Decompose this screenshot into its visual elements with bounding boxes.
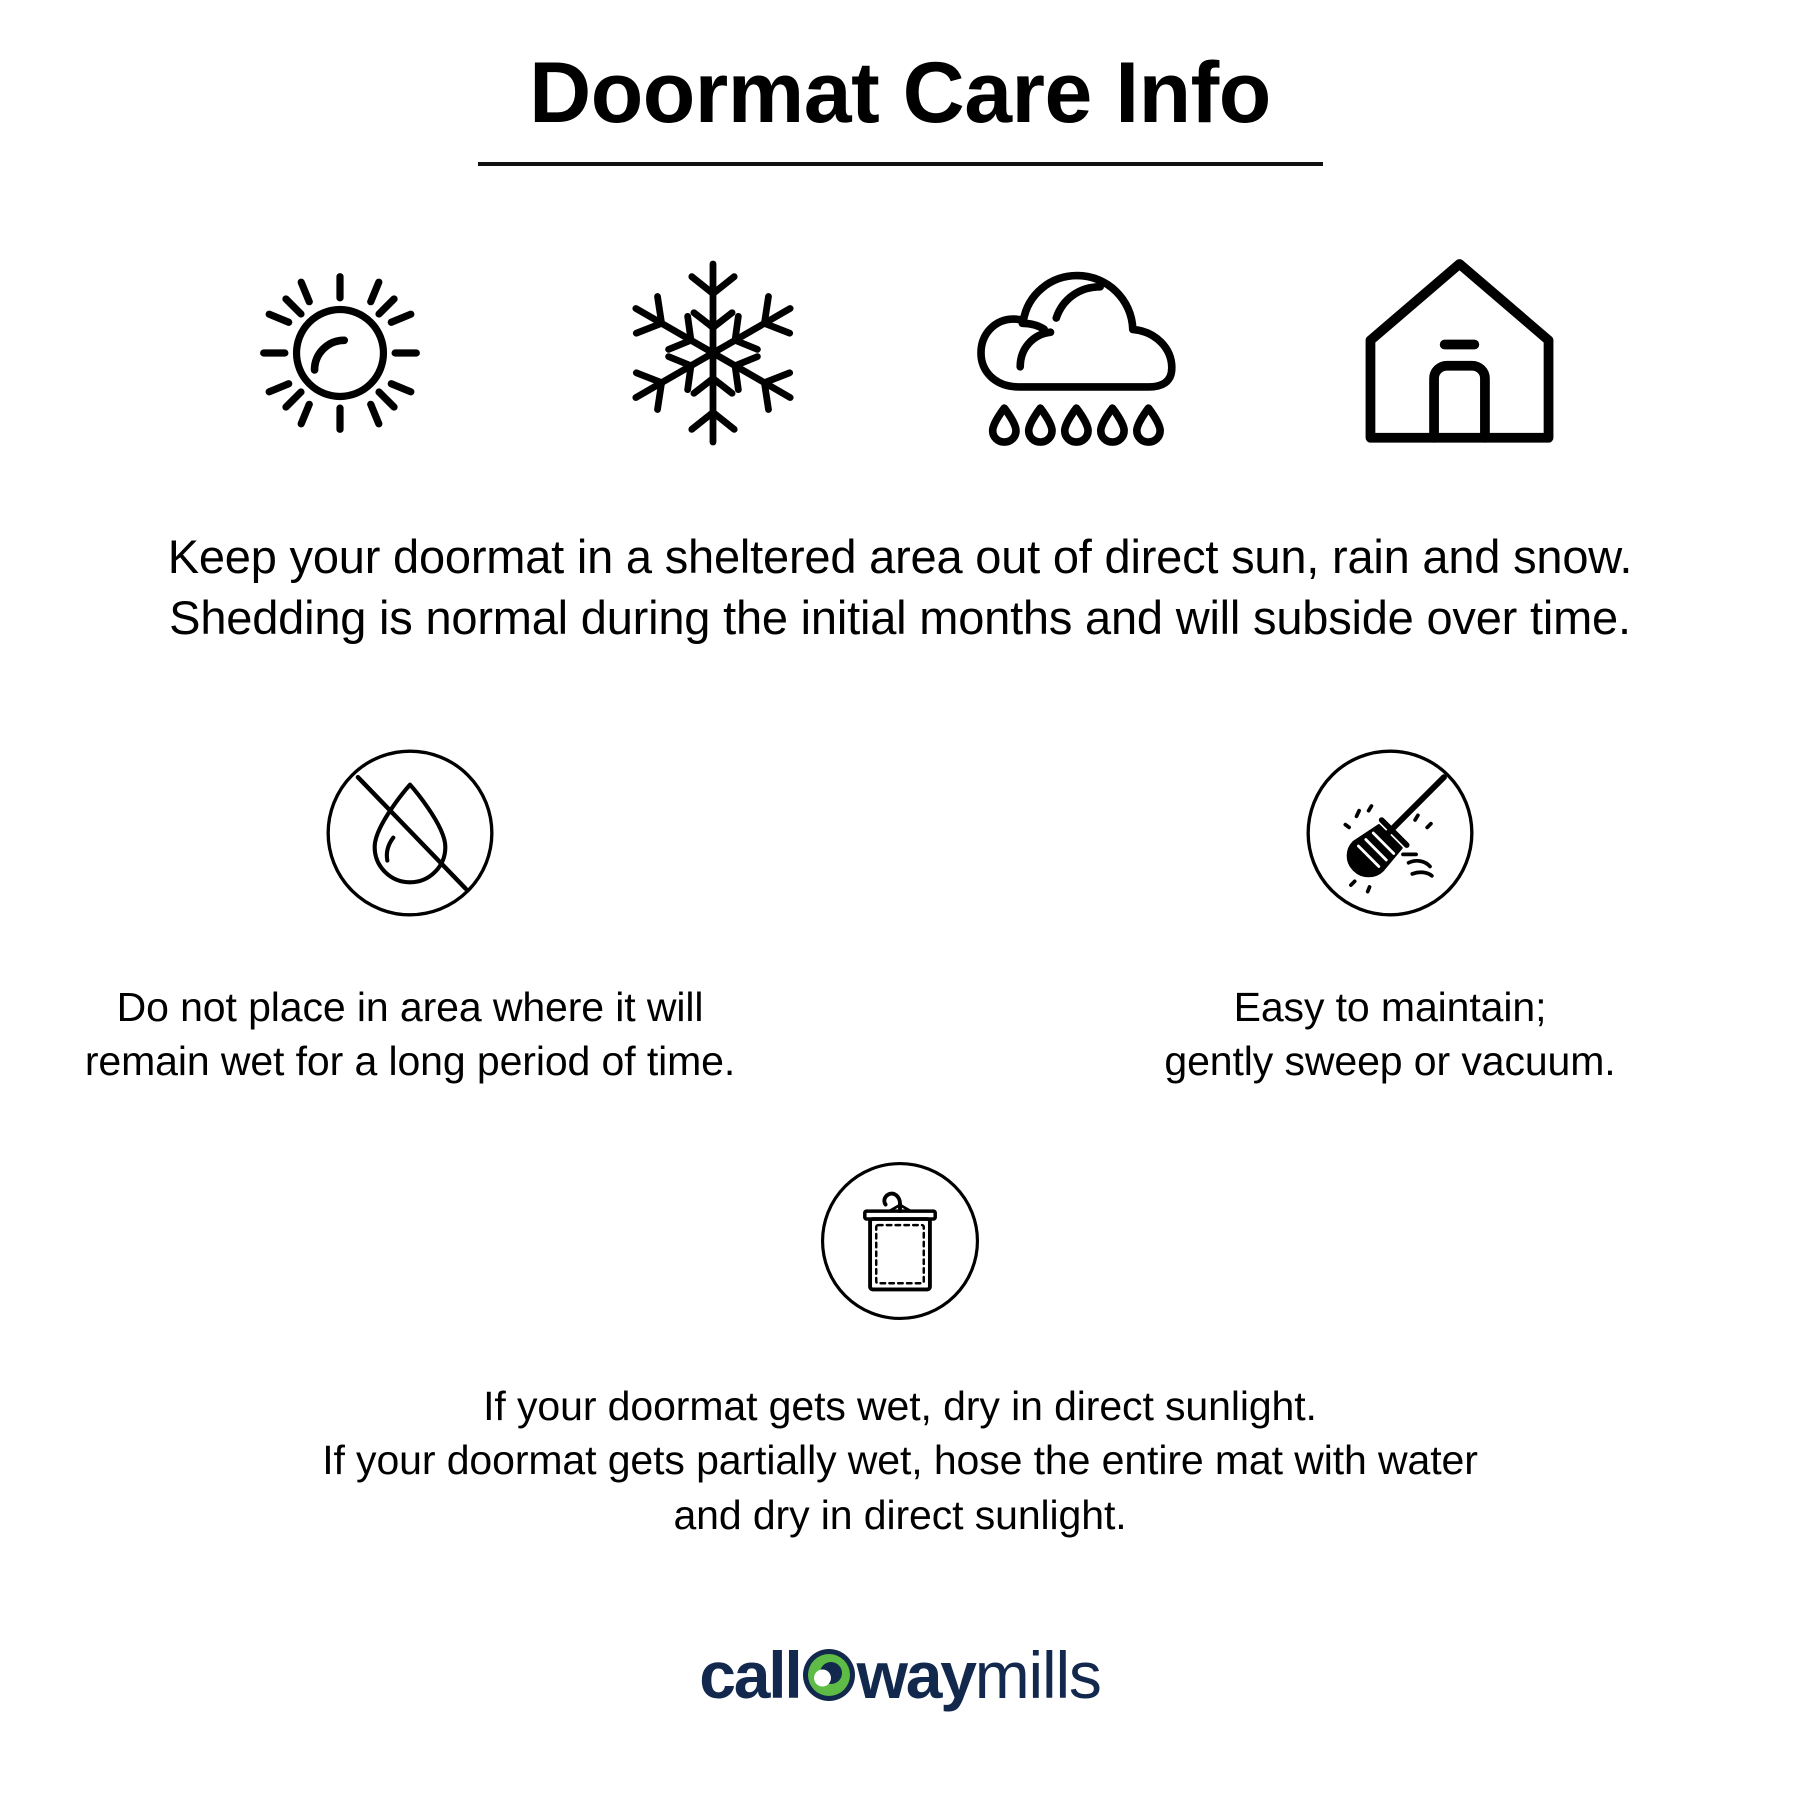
care-caption-line-2: remain wet for a long period of time. [85,1034,735,1089]
snowflake-icon [607,247,819,459]
care-item-drying: If your doormat gets wet, dry in direct … [90,1149,1710,1543]
care-icon-wrap-broom [1290,736,1490,936]
drying-line-3: and dry in direct sunlight. [322,1488,1478,1543]
calloway-mills-logo: call way mills [699,1642,1100,1708]
intro-paragraph: Keep your doormat in a sheltered area ou… [90,526,1710,648]
care-caption-line-1: Easy to maintain; [1164,980,1615,1035]
care-caption-no-standing-water: Do not place in area where it will remai… [85,980,735,1089]
page-title: Doormat Care Info [529,50,1271,138]
weather-icon-cell-house [1340,238,1580,468]
care-caption-line-1: Do not place in area where it will [85,980,735,1035]
sun-icon [234,247,446,459]
care-item-no-standing-water: Do not place in area where it will remai… [90,736,730,1089]
care-caption-drying: If your doormat gets wet, dry in direct … [322,1379,1478,1543]
care-caption-line-2: gently sweep or vacuum. [1164,1034,1615,1089]
weather-icon-cell-rain [967,238,1207,468]
broom-icon [1297,740,1483,931]
care-items-row: Do not place in area where it will remai… [90,736,1710,1089]
logo-green-o-icon [802,1648,856,1702]
drying-line-2: If your doormat gets partially wet, hose… [322,1433,1478,1488]
no-water-icon [317,740,503,931]
doormat-care-info-page: Doormat Care Info [0,0,1800,1800]
care-item-easy-maintain: Easy to maintain; gently sweep or vacuum… [1070,736,1710,1089]
weather-icon-row [220,238,1580,468]
care-icon-wrap-hang-dry [805,1149,995,1339]
care-caption-easy-maintain: Easy to maintain; gently sweep or vacuum… [1164,980,1615,1089]
logo-text-mills: mills [975,1642,1101,1708]
hang-dry-icon [812,1153,988,1334]
logo-text-way: way [857,1642,975,1708]
title-block: Doormat Care Info [470,50,1330,166]
weather-icon-cell-snow [593,238,833,468]
title-underline-divider [478,162,1323,166]
drying-line-1: If your doormat gets wet, dry in direct … [322,1379,1478,1434]
care-icon-wrap-no-water [310,736,510,936]
rain-cloud-icon [968,247,1206,459]
logo-text-call: call [699,1642,800,1708]
house-icon [1352,247,1567,459]
intro-line-2: Shedding is normal during the initial mo… [90,587,1710,648]
weather-icon-cell-sun [220,238,460,468]
brand-logo: call way mills [0,1642,1800,1708]
intro-line-1: Keep your doormat in a sheltered area ou… [90,526,1710,587]
